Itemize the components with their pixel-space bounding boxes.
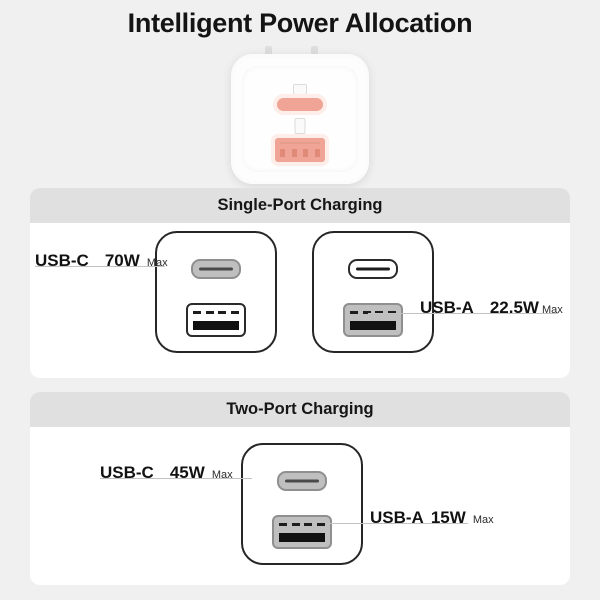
usb-c-marking-icon (293, 84, 307, 95)
usb-a-slab (279, 533, 325, 542)
section-body-single-port: USB-C 70W Max USB-A 22.5W Max (30, 223, 570, 378)
callout-port-name: USB-C (35, 251, 89, 271)
callout-usb-c-70w: USB-C 70W Max (35, 251, 168, 271)
callout-usb-a-15w: USB-A 15W Max (370, 508, 494, 528)
usb-c-slot (285, 480, 319, 483)
charger-single-usba[interactable] (312, 231, 434, 353)
charger-two-port-usb-a-port[interactable] (272, 515, 332, 549)
callout-watts: 45W (170, 463, 205, 483)
callout-max-label: Max (542, 304, 563, 316)
callout-port-name: USB-C (100, 463, 154, 483)
callout-watts: 15W (431, 508, 466, 528)
hero-usb-a-port (275, 138, 325, 162)
charger-single-usbc-usb-c-port[interactable] (191, 259, 241, 279)
section-header-single-port: Single-Port Charging (30, 188, 570, 223)
usb-a-lip (280, 142, 320, 144)
usb-a-slab (193, 321, 239, 330)
usb-a-contacts (280, 149, 320, 157)
usb-a-pins (193, 311, 239, 314)
charger-two-port[interactable] (241, 443, 363, 565)
usb-a-pins (279, 523, 325, 526)
callout-max-label: Max (212, 469, 233, 481)
callout-port-name: USB-A (370, 508, 424, 528)
charger-single-usbc[interactable] (155, 231, 277, 353)
section-single-port: Single-Port Charging USB-C 70W Max (30, 188, 570, 378)
usb-a-marking-icon (295, 118, 306, 134)
callout-watts: 22.5W (490, 298, 539, 318)
callout-max-label: Max (147, 257, 168, 269)
callout-watts: 70W (105, 251, 140, 271)
charger-single-usba-usb-c-port[interactable] (348, 259, 398, 279)
callout-max-label: Max (473, 514, 494, 526)
usb-c-slot (199, 268, 233, 271)
callout-usb-c-45w: USB-C 45W Max (100, 463, 233, 483)
callout-usb-a-22-5w: USB-A 22.5W Max (420, 298, 563, 318)
page-title: Intelligent Power Allocation (0, 8, 600, 39)
section-two-port: Two-Port Charging USB-C 45W Max USB-A (30, 392, 570, 585)
usb-a-slab (350, 321, 396, 330)
hero-charger-image (231, 46, 369, 184)
hero-usb-c-port (277, 98, 323, 111)
section-header-two-port: Two-Port Charging (30, 392, 570, 427)
callout-port-name: USB-A (420, 298, 474, 318)
charger-single-usba-usb-a-port[interactable] (343, 303, 403, 337)
section-body-two-port: USB-C 45W Max USB-A 15W Max (30, 427, 570, 585)
charger-single-usbc-usb-a-port[interactable] (186, 303, 246, 337)
charger-face (242, 66, 358, 172)
charger-two-port-usb-c-port[interactable] (277, 471, 327, 491)
charger-body (231, 54, 369, 184)
usb-c-slot (356, 268, 390, 271)
